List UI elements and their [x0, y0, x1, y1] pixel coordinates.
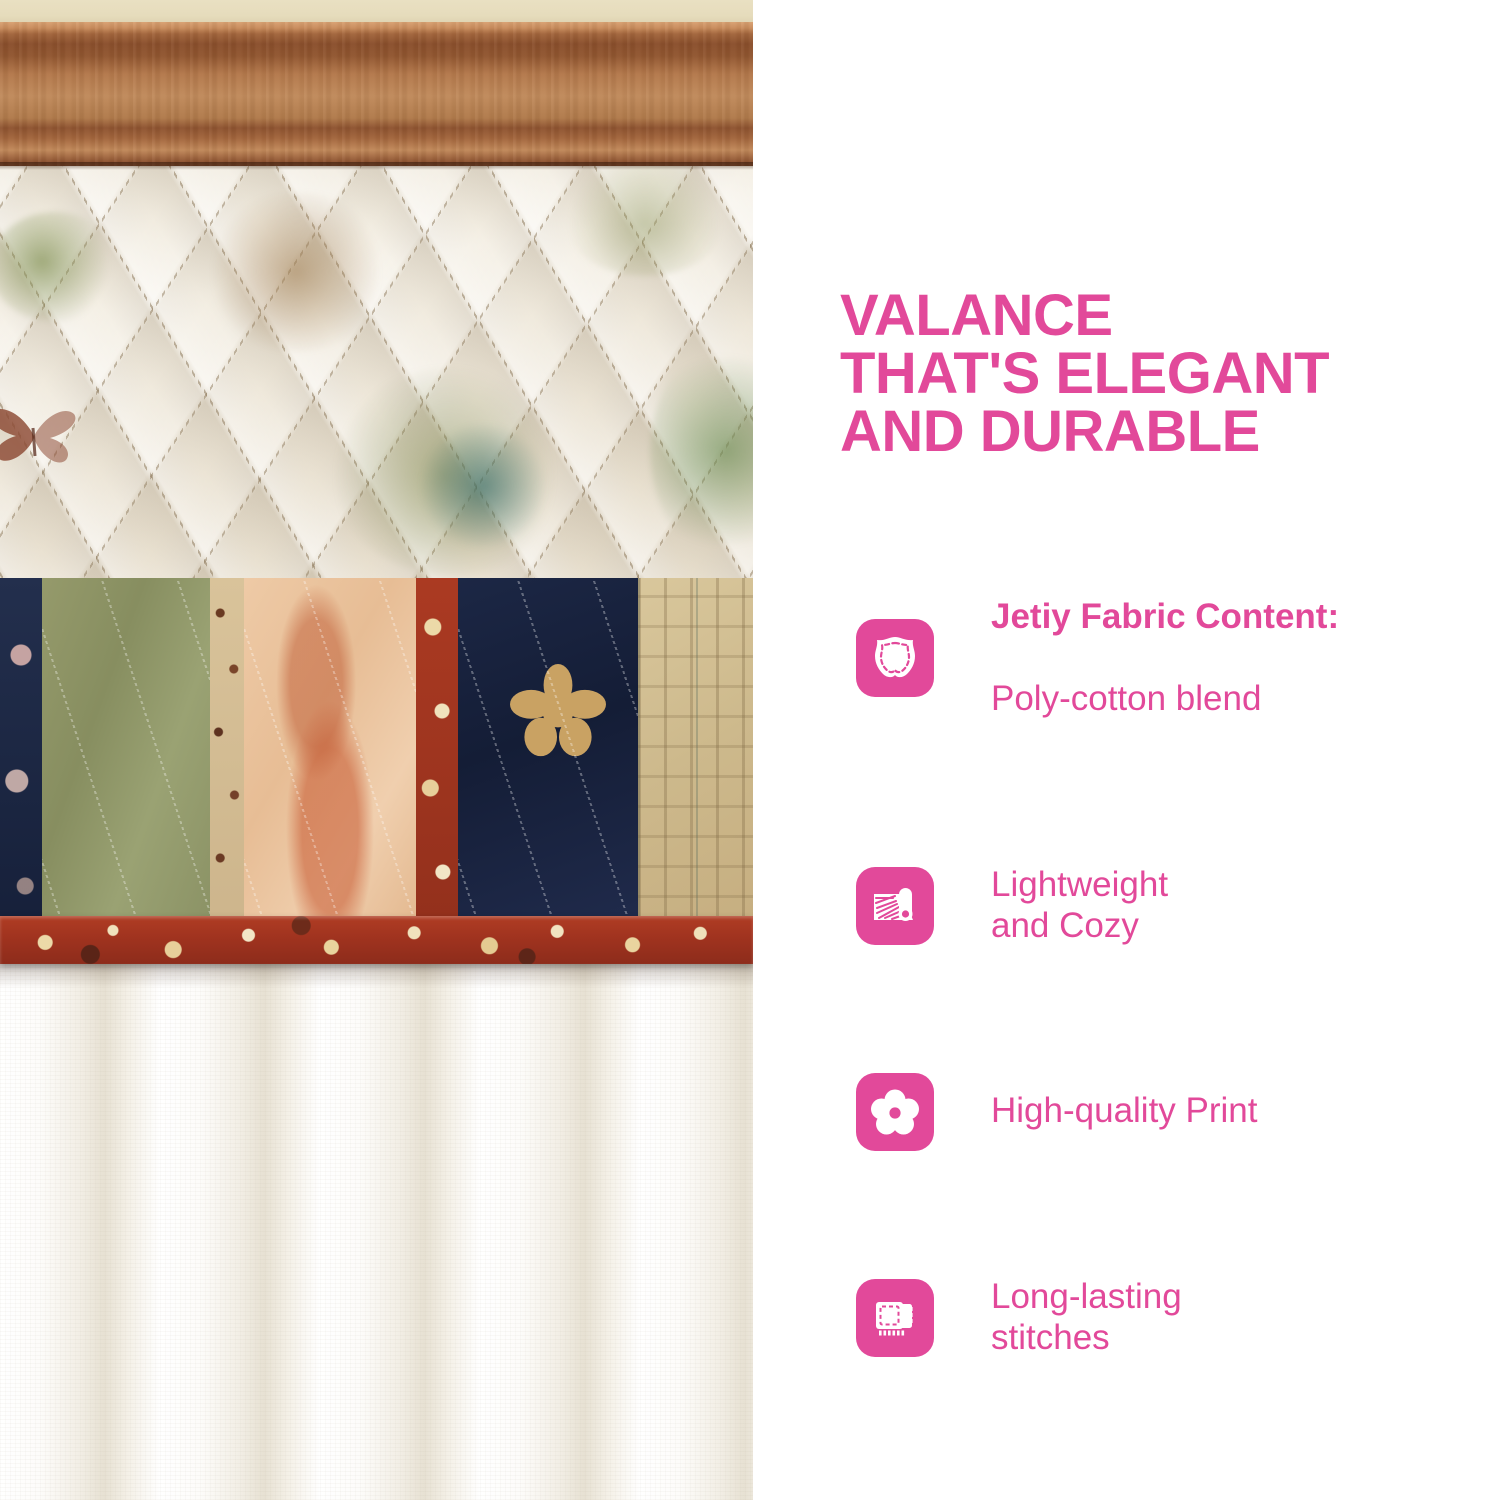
feature-label-bold: Jetiy Fabric Content: [991, 597, 1339, 638]
feature-item-fabric-content: Jetiy Fabric Content: Poly-cotton blend [856, 556, 1476, 761]
patch-peach-floral [244, 578, 416, 928]
patch-sage-green [42, 578, 210, 928]
stitched-fabric-icon [856, 1279, 934, 1357]
patch-navy-gold-flower [458, 578, 638, 928]
fabric-roll-icon [856, 867, 934, 945]
feature-label: Lightweight and Cozy [991, 824, 1168, 988]
feature-label: High-quality Print [991, 1050, 1258, 1173]
patch-quilt-lines [244, 578, 416, 928]
patch-tan-speckle-strip [210, 578, 244, 928]
product-photo [0, 0, 753, 1500]
feature-item-fade-resistant: Fade-Resistant Colors [856, 1463, 1476, 1500]
feature-item-stitches: Long-lasting stitches [856, 1236, 1476, 1400]
feature-label: Long-lasting stitches [991, 1236, 1182, 1400]
sheer-curtain [0, 962, 753, 1500]
botanical-motif [196, 192, 396, 352]
butterfly-motif [0, 398, 82, 468]
botanical-motif [408, 416, 558, 556]
cornice-shadow [0, 162, 753, 170]
content-panel: VALANCE THAT'S ELEGANT AND DURABLE Jetiy… [753, 0, 1500, 1500]
infographic-root: VALANCE THAT'S ELEGANT AND DURABLE Jetiy… [0, 0, 1500, 1500]
page-title: VALANCE THAT'S ELEGANT AND DURABLE [840, 287, 1460, 461]
feature-list: Jetiy Fabric Content: Poly-cotton blend [856, 556, 1476, 1500]
feature-label-value: Long-lasting stitches [991, 1277, 1182, 1359]
patch-tan-plaid [638, 578, 753, 928]
wooden-cornice [0, 22, 753, 168]
flower-icon [856, 1073, 934, 1151]
rust-floral-binding [0, 916, 753, 964]
leather-hide-icon [856, 619, 934, 697]
feature-label-value: Poly-cotton blend [991, 679, 1339, 720]
feature-label: Jetiy Fabric Content: Poly-cotton blend [991, 556, 1339, 761]
feature-item-lightweight: Lightweight and Cozy [856, 824, 1476, 988]
patch-quilt-lines [42, 578, 210, 928]
feature-label-value: High-quality Print [991, 1091, 1258, 1132]
quilted-cream-panel [0, 166, 753, 578]
patch-navy-floral [0, 578, 42, 928]
patchwork-band [0, 578, 753, 928]
feature-label-value: Lightweight and Cozy [991, 865, 1168, 947]
feature-item-print-quality: High-quality Print [856, 1050, 1476, 1173]
patch-quilt-lines [458, 578, 638, 928]
feature-label: Fade-Resistant Colors [991, 1463, 1228, 1500]
patch-rust-floral-strip [416, 578, 458, 928]
